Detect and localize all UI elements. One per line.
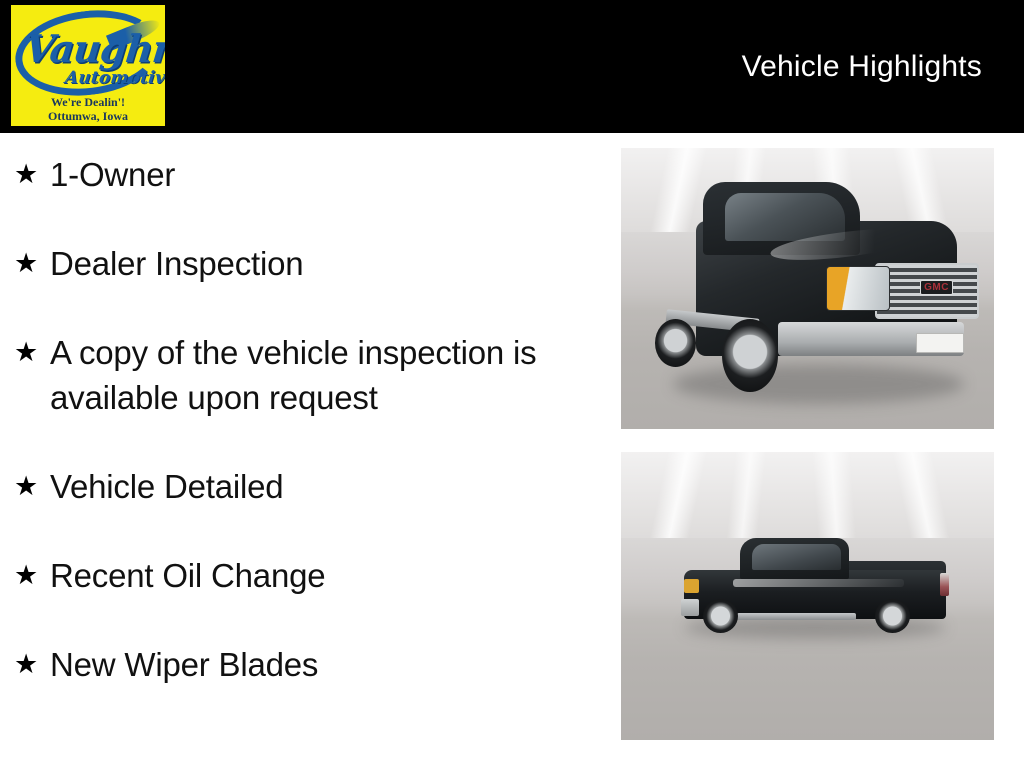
star-icon: ★ (14, 642, 50, 687)
showroom-ceiling-lights (621, 452, 994, 538)
vehicle-photo-front-three-quarter[interactable]: GMC (621, 148, 994, 429)
truck-rear-wheel (655, 319, 696, 367)
page-title: Vehicle Highlights (742, 50, 982, 84)
truck-headlight (826, 266, 889, 311)
list-item-label: Vehicle Detailed (50, 464, 594, 509)
list-item: ★ Dealer Inspection (14, 241, 594, 286)
list-item: ★ Recent Oil Change (14, 553, 594, 598)
vehicle-highlights-list: ★ 1-Owner ★ Dealer Inspection ★ A copy o… (14, 152, 594, 731)
truck-front-wheel (722, 319, 778, 392)
star-icon: ★ (14, 241, 50, 286)
dealer-logo: Vaughn Automotive We're Dealin'! Ottumwa… (11, 5, 165, 126)
logo-tagline: We're Dealin'! Ottumwa, Iowa (11, 95, 165, 123)
list-item-label: A copy of the vehicle inspection is avai… (50, 330, 594, 420)
logo-tagline-line1: We're Dealin'! (11, 95, 165, 109)
truck-license-plate (916, 333, 964, 353)
vehicle-highlights-slide: Vehicle Highlights Vaughn Automotive We'… (0, 0, 1024, 768)
logo-name-text: Vaughn (23, 29, 165, 69)
star-icon: ★ (14, 330, 50, 375)
list-item: ★ New Wiper Blades (14, 642, 594, 687)
list-item: ★ A copy of the vehicle inspection is av… (14, 330, 594, 420)
header-bar: Vehicle Highlights Vaughn Automotive We'… (0, 0, 1024, 133)
truck-taillight (940, 573, 950, 596)
logo-tagline-line2: Ottumwa, Iowa (11, 109, 165, 123)
list-item: ★ Vehicle Detailed (14, 464, 594, 509)
logo-subtitle-text: Automotive (64, 69, 165, 87)
vehicle-floor-shadow (673, 364, 964, 403)
truck-side-windows (752, 544, 842, 570)
truck-running-board (737, 613, 856, 620)
list-item-label: Recent Oil Change (50, 553, 594, 598)
truck-body-highlight (733, 579, 905, 588)
gmc-badge-icon: GMC (920, 280, 953, 295)
list-item-label: New Wiper Blades (50, 642, 594, 687)
vehicle-photo-side-profile[interactable] (621, 452, 994, 740)
list-item-label: Dealer Inspection (50, 241, 594, 286)
star-icon: ★ (14, 152, 50, 197)
truck-headlight (684, 579, 699, 593)
list-item: ★ 1-Owner (14, 152, 594, 197)
star-icon: ★ (14, 553, 50, 598)
list-item-label: 1-Owner (50, 152, 594, 197)
truck-front-bumper (681, 599, 700, 616)
star-icon: ★ (14, 464, 50, 509)
